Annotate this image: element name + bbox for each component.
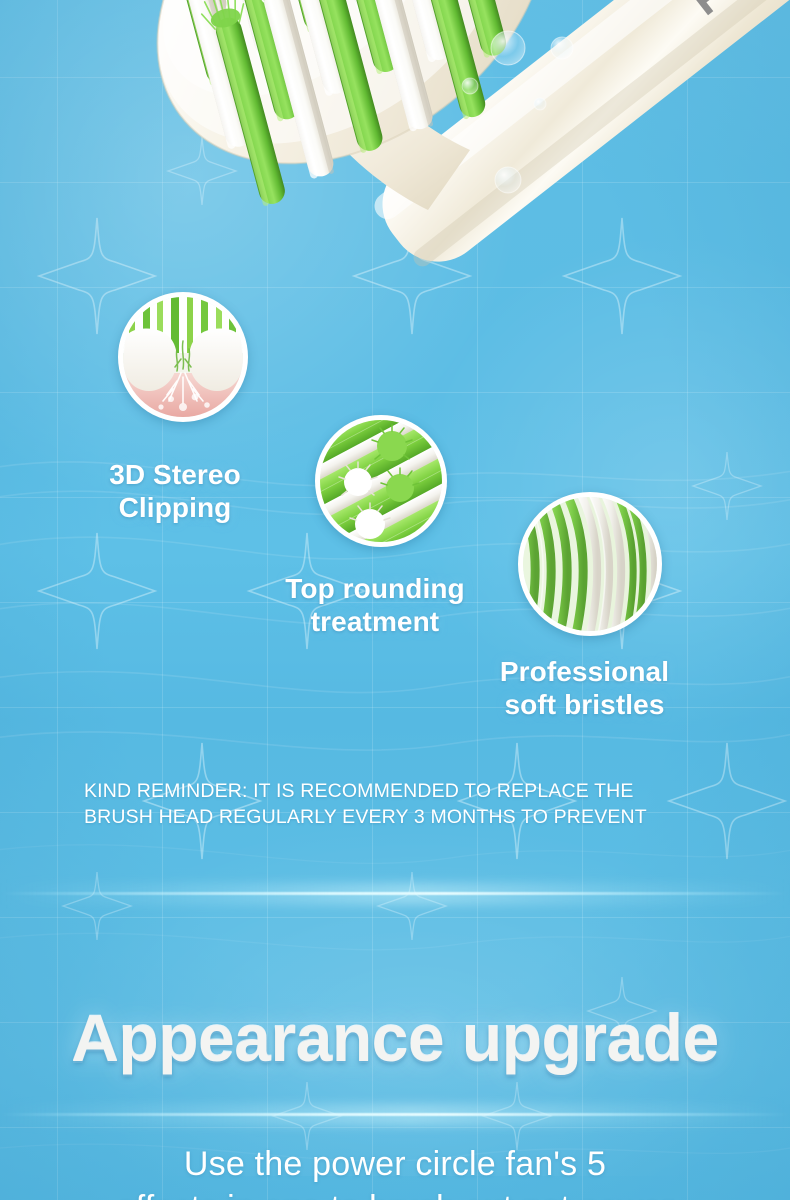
section-divider-glow-top <box>0 892 790 895</box>
section-headline: Appearance upgrade <box>0 1000 790 1076</box>
kind-reminder-text: KIND REMINDER: IT IS RECOMMENDED TO REPL… <box>84 778 724 831</box>
section-divider-glow-bottom <box>0 1113 790 1116</box>
product-banner: PHILIPS <box>0 0 790 1200</box>
feature-image-3d-stereo-clipping <box>118 292 248 422</box>
feature-caption-top-rounding-treatment: Top rounding treatment <box>255 572 495 638</box>
feature-caption-professional-soft-bristles: Professional soft bristles <box>462 655 707 721</box>
section-subline: Use the power circle fan's 5 effects in … <box>0 1143 790 1200</box>
feature-image-professional-soft-bristles <box>518 492 662 636</box>
feature-image-top-rounding-treatment <box>315 415 447 547</box>
feature-caption-3d-stereo-clipping: 3D Stereo Clipping <box>60 458 290 524</box>
